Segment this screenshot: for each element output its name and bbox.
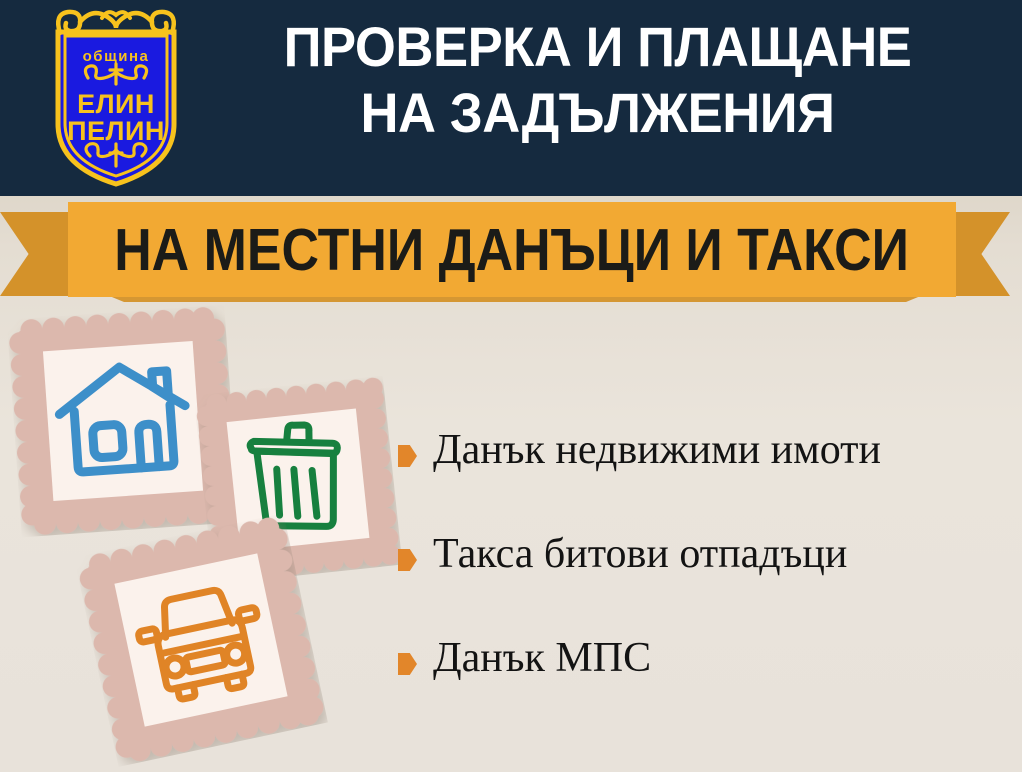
list-item-label: Такса битови отпадъци bbox=[433, 529, 1018, 579]
arrow-bullet-icon bbox=[398, 653, 417, 675]
municipality-crest-logo: община ЕЛИН ПЕЛИН bbox=[36, 6, 196, 190]
list-item[interactable]: Данък недвижими имоти bbox=[398, 425, 1018, 529]
list-item[interactable]: Данък МПС bbox=[398, 633, 1018, 737]
list-item-label: Данък МПС bbox=[433, 633, 1018, 683]
tax-type-list: Данък недвижими имоти Такса битови отпад… bbox=[398, 425, 1018, 737]
ribbon-band: НА МЕСТНИ ДАНЪЦИ И ТАКСИ bbox=[68, 202, 956, 297]
ribbon-banner: НА МЕСТНИ ДАНЪЦИ И ТАКСИ bbox=[0, 196, 1022, 308]
ribbon-label: НА МЕСТНИ ДАНЪЦИ И ТАКСИ bbox=[115, 220, 910, 280]
poster-root: ПРОВЕРКА И ПЛАЩАНЕ НА ЗАДЪЛЖЕНИЯ община … bbox=[0, 0, 1022, 772]
crest-line-1: ЕЛИН bbox=[77, 89, 155, 119]
stamp-card-vehicle-tax bbox=[74, 513, 328, 767]
crest-line-2: ПЕЛИН bbox=[67, 116, 165, 146]
page-title: ПРОВЕРКА И ПЛАЩАНЕ НА ЗАДЪЛЖЕНИЯ bbox=[210, 14, 986, 146]
arrow-bullet-icon bbox=[398, 549, 417, 571]
list-item[interactable]: Такса битови отпадъци bbox=[398, 529, 1018, 633]
list-item-label: Данък недвижими имоти bbox=[433, 425, 1018, 475]
arrow-bullet-icon bbox=[398, 445, 417, 467]
